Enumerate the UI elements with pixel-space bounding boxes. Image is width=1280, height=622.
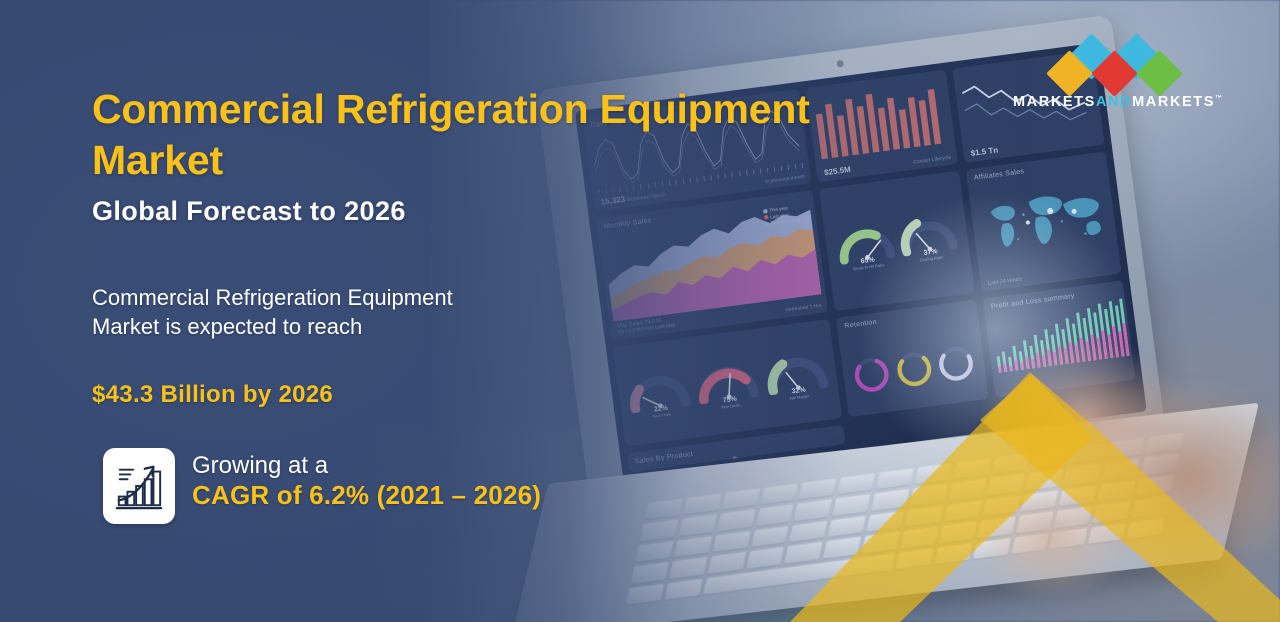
banner-subtitle: Global Forecast to 2026 (92, 196, 406, 227)
logo-trademark: ™ (1215, 95, 1222, 102)
banner-description: Commercial Refrigeration Equipment Marke… (92, 283, 492, 341)
logo-word-part2: MARKETS (1132, 94, 1215, 110)
logo-word-part1: MARKETS (1013, 94, 1096, 110)
brand-logo[interactable]: MARKETSANDMARKETS™ (1013, 38, 1218, 110)
page-title: Commercial Refrigeration Equipment Marke… (92, 84, 882, 187)
market-value-highlight: $43.3 Billion by 2026 (92, 381, 333, 409)
logo-wordmark: MARKETSANDMARKETS™ (1013, 94, 1218, 110)
marketing-banner: Daily Signups 15,323 Renewed Sin (0, 0, 1280, 622)
growth-chart-glyph (114, 460, 164, 512)
logo-diamonds (1013, 38, 1218, 90)
growth-bar-chart-icon (103, 448, 175, 524)
cagr-value: CAGR of 6.2% (2021 – 2026) (192, 480, 541, 511)
cagr-text: Growing at a CAGR of 6.2% (2021 – 2026) (192, 448, 541, 512)
cagr-label: Growing at a (192, 452, 541, 480)
cagr-block: Growing at a CAGR of 6.2% (2021 – 2026) (103, 448, 541, 524)
banner-content: Commercial Refrigeration Equipment Marke… (0, 0, 1280, 622)
